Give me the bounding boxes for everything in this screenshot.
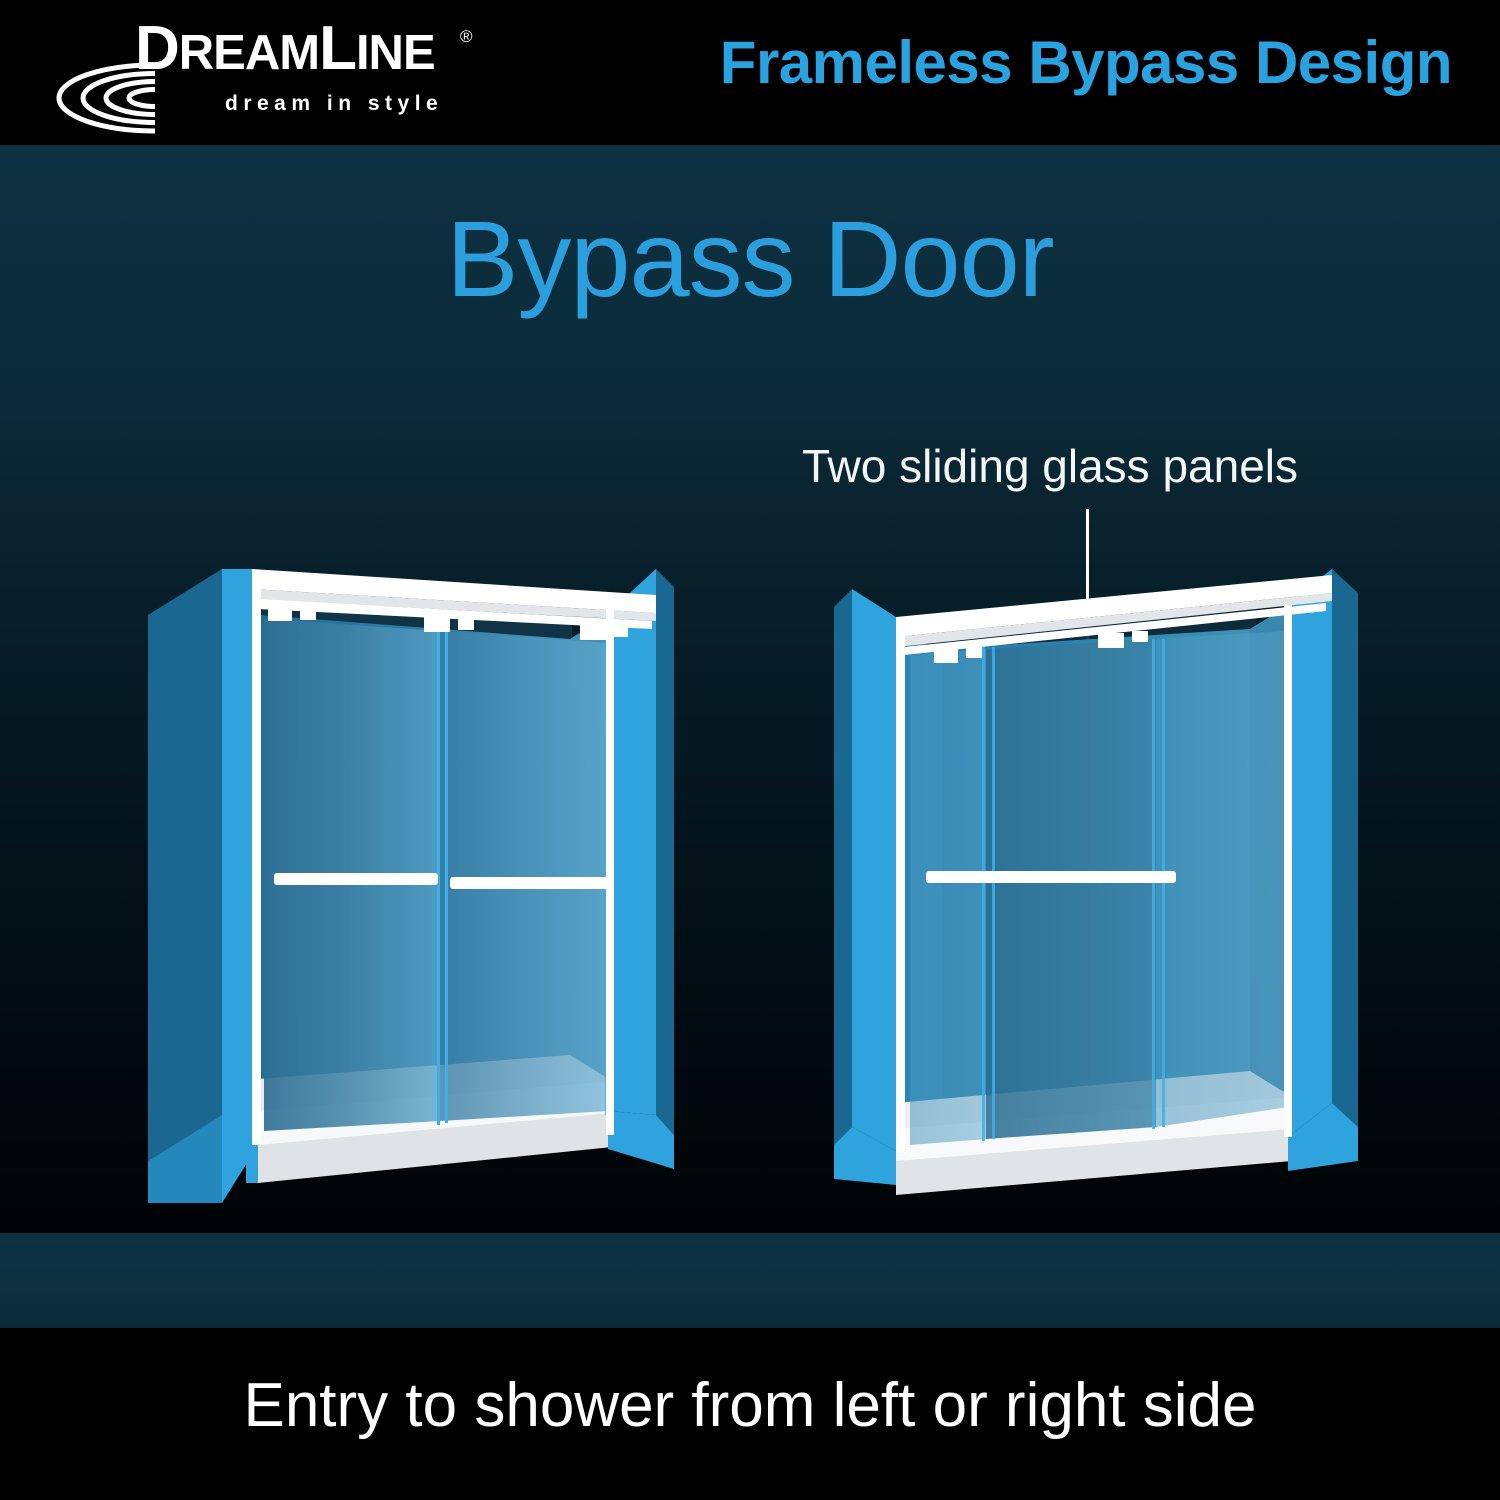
brand-wordmark: DREAMLINE (135, 18, 435, 80)
header-bar: DREAMLINE ® dream in style Frameless Byp… (0, 0, 1500, 145)
shower-enclosure-left (140, 555, 680, 1265)
brand-logo: DREAMLINE ® dream in style (55, 14, 475, 129)
footer-bar: Entry to shower from left or right side (0, 1328, 1500, 1500)
brand-letter-l: L (319, 14, 356, 83)
brand-ine: INE (356, 26, 435, 80)
brand-letter-d: D (135, 14, 179, 83)
brand-ream: REAM (179, 26, 319, 80)
product-infographic: DREAMLINE ® dream in style Frameless Byp… (0, 0, 1500, 1500)
brand-tagline: dream in style (225, 92, 443, 116)
annotation-label: Two sliding glass panels (700, 439, 1400, 493)
header-title: Frameless Bypass Design (720, 28, 1452, 97)
page-title: Bypass Door (0, 205, 1500, 313)
illustration-scene: Bypass Door Two sliding glass panels (0, 145, 1500, 1328)
shower-enclosure-right (826, 555, 1366, 1265)
registered-trademark-icon: ® (460, 28, 473, 45)
footer-caption: Entry to shower from left or right side (0, 1370, 1500, 1441)
